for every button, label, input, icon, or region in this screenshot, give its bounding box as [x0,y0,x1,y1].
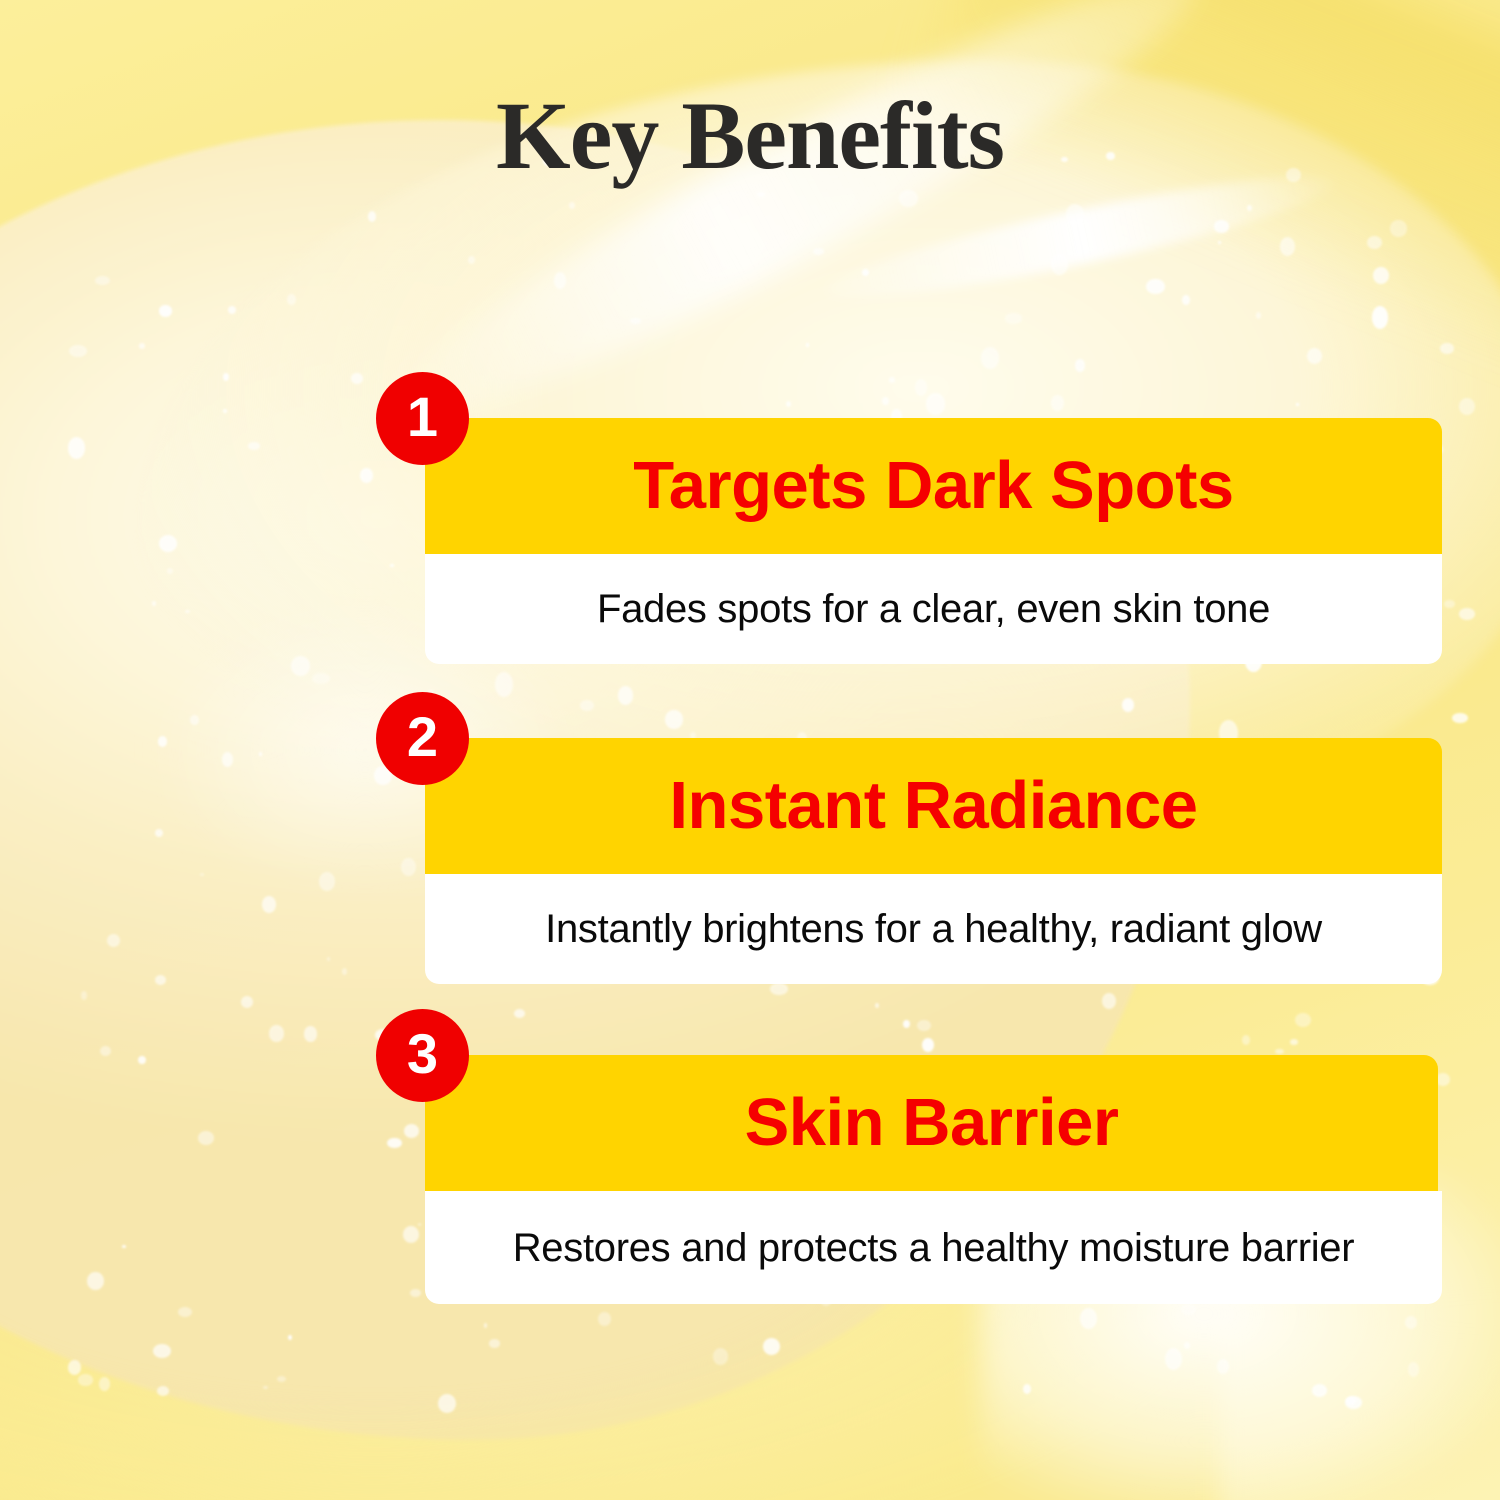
benefit-description-2: Instantly brightens for a healthy, radia… [545,907,1322,951]
benefit-number-badge-2: 2 [376,692,469,785]
benefit-number-badge-3: 3 [376,1009,469,1102]
key-benefits-infographic: Key Benefits 1 Targets Dark Spots Fades … [0,0,1500,1500]
benefit-card-1: 1 Targets Dark Spots Fades spots for a c… [425,418,1442,664]
benefit-number-2: 2 [407,709,438,768]
benefit-description-1: Fades spots for a clear, even skin tone [597,587,1270,631]
benefit-number-1: 1 [407,389,438,448]
benefit-card-1-body: Fades spots for a clear, even skin tone [425,554,1442,664]
benefit-card-3: 3 Skin Barrier Restores and protects a h… [425,1055,1442,1304]
benefit-heading-2: Instant Radiance [669,772,1197,841]
benefit-card-3-header: 3 Skin Barrier [425,1055,1438,1191]
benefit-number-badge-1: 1 [376,372,469,465]
benefit-card-2-header: 2 Instant Radiance [425,738,1442,874]
benefit-heading-1: Targets Dark Spots [633,452,1233,521]
benefit-card-1-header: 1 Targets Dark Spots [425,418,1442,554]
benefit-card-2: 2 Instant Radiance Instantly brightens f… [425,738,1442,984]
page-title: Key Benefits [0,88,1500,184]
benefit-card-3-body: Restores and protects a healthy moisture… [425,1191,1442,1304]
benefit-description-3: Restores and protects a healthy moisture… [513,1226,1355,1270]
benefit-card-2-body: Instantly brightens for a healthy, radia… [425,874,1442,984]
benefit-number-3: 3 [407,1026,438,1085]
benefit-heading-3: Skin Barrier [745,1089,1119,1158]
